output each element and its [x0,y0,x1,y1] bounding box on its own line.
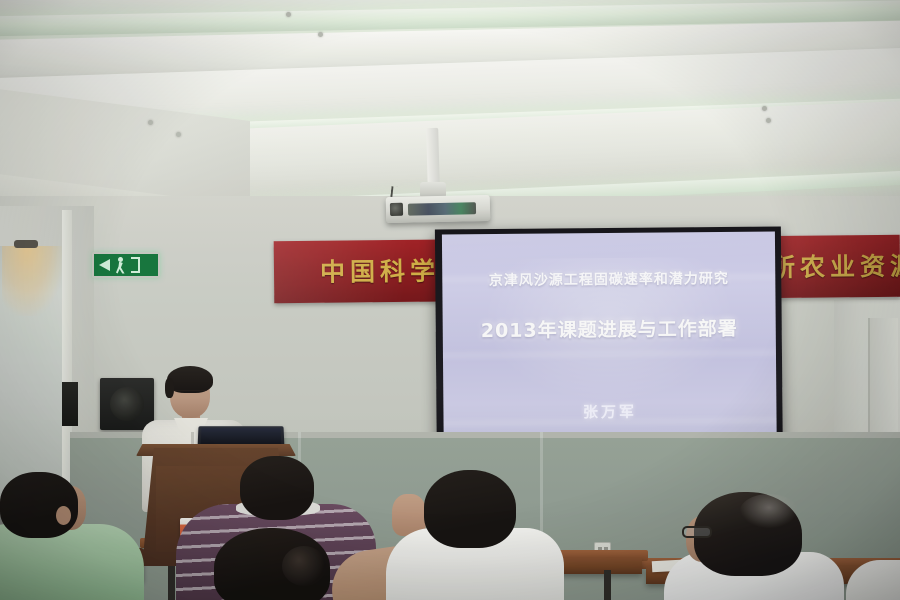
projector-mount [426,128,440,190]
wall-speaker [62,382,78,426]
ceiling-fixture-dot [148,120,153,125]
presenter-face-line [173,390,207,397]
presenter-hair [167,366,213,393]
running-person-icon [114,257,127,274]
table-leg [604,570,611,600]
slide-author: 张万军 [443,400,776,424]
ceiling-fixture-dot [286,12,291,17]
attendee-glasses-grey-hair [740,494,798,528]
wall-lamp [14,240,38,248]
ceiling-fixture-dot [762,106,767,111]
projector-lens-icon [390,203,403,216]
attendee-hair-bun [282,546,326,586]
conference-room-photo: 中国科学院遗传与发育生物学研究所农业资源研究中心 京津风沙源工程固碳速率和潜力研… [0,0,900,600]
frosted-glass-panel [0,246,66,504]
attendee-green-shirt-head [0,472,78,538]
ceiling-projector [386,195,491,223]
projector-ports [408,202,476,215]
ceiling [0,0,900,215]
eyeglasses-icon [682,526,712,538]
door-icon [131,257,140,273]
ceiling-fixture-dot [318,32,323,37]
left-arrow-icon [99,259,110,271]
attendee-green-shirt-ear [56,506,71,525]
slide-title-line-2: 2013年课题进展与工作部署 [443,314,776,344]
ceiling-fixture-dot [176,132,181,137]
emergency-exit-sign [92,252,160,278]
attendee-purple-polo-head [240,456,314,520]
ceiling-fixture-dot [766,118,771,123]
attendee-white-shirt-head [424,470,516,548]
slide-title-line-1: 京津风沙源工程固碳速率和潜力研究 [442,268,775,291]
